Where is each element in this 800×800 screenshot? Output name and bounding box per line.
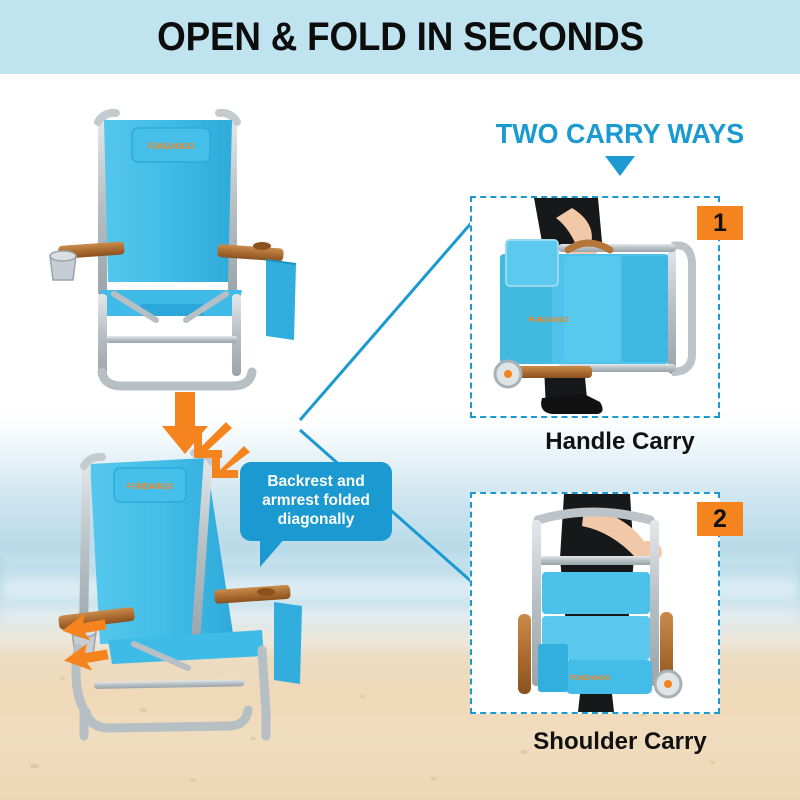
hinge-indicator-arrows-icon — [58, 608, 118, 670]
header-band: OPEN & FOLD IN SECONDS — [0, 0, 800, 74]
callout-line-1: Backrest and — [246, 472, 386, 491]
sand-speck — [30, 764, 39, 768]
sand-speck — [360, 695, 365, 698]
badge-number-2: 2 — [697, 502, 743, 536]
handle-carry-caption: Handle Carry — [452, 428, 788, 456]
shoulder-carry-photo: FUNDANGO — [472, 494, 718, 712]
callout-line-3: diagonally — [246, 510, 386, 529]
handle-carry-photo: FUNDANGO — [472, 198, 718, 416]
svg-text:FUNDANGO: FUNDANGO — [570, 675, 611, 682]
svg-text:FUNDANGO: FUNDANGO — [148, 142, 194, 151]
callout-line-2: armrest folded — [246, 491, 386, 510]
two-carry-ways-title: TWO CARRY WAYS — [459, 118, 782, 150]
svg-text:FUNDANGO: FUNDANGO — [528, 317, 569, 324]
open-beach-chair-illustration: FUNDANGO — [36, 104, 326, 394]
sand-speck — [430, 777, 437, 780]
sand-speck — [190, 779, 196, 782]
page-title: OPEN & FOLD IN SECONDS — [157, 15, 644, 60]
chevron-down-icon — [605, 156, 635, 176]
badge-number-1: 1 — [697, 206, 743, 240]
sand-speck — [710, 761, 715, 764]
svg-text:FUNDANGO: FUNDANGO — [127, 482, 173, 491]
fold-callout-bubble: Backrest and armrest folded diagonally — [240, 462, 392, 541]
shoulder-carry-caption: Shoulder Carry — [452, 728, 788, 756]
infographic-canvas: OPEN & FOLD IN SECONDS — [0, 0, 800, 800]
bubble-tail — [260, 537, 286, 567]
